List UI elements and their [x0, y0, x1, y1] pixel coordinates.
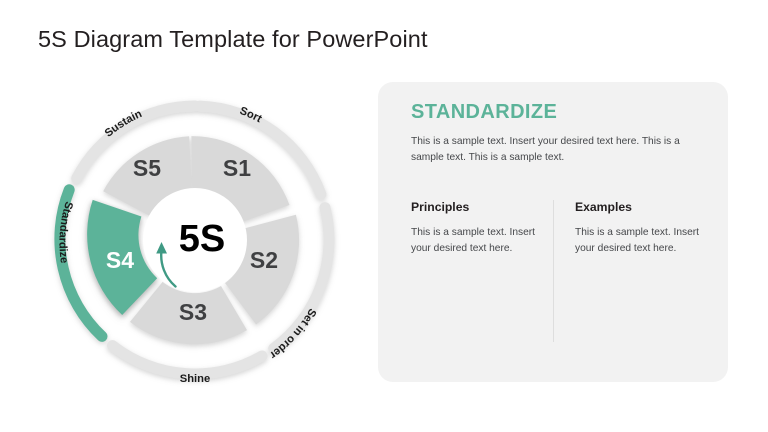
slide-canvas: 5S Diagram Template for PowerPoint — [0, 0, 768, 432]
panel-column-principles: Principles This is a sample text. Insert… — [411, 200, 539, 256]
segment-label-s3: S3 — [179, 299, 207, 325]
panel-body-text: This is a sample text. Insert your desir… — [411, 134, 699, 165]
info-panel: STANDARDIZE This is a sample text. Inser… — [378, 82, 728, 382]
ring-label-shine: Shine — [180, 373, 210, 385]
segment-label-s5: S5 — [133, 155, 161, 181]
panel-columns: Principles This is a sample text. Insert… — [411, 200, 703, 256]
ring-label-set-in-order: Set in order — [267, 306, 318, 361]
page-title: 5S Diagram Template for PowerPoint — [38, 26, 428, 53]
column-title: Examples — [575, 200, 703, 214]
segment-label-s4: S4 — [106, 247, 134, 273]
five-s-diagram: Sort Set in order Shine Standardize Sust… — [34, 82, 356, 398]
panel-heading: STANDARDIZE — [411, 101, 557, 124]
column-body: This is a sample text. Insert your desir… — [575, 225, 703, 256]
segment-label-s1: S1 — [223, 155, 251, 181]
column-body: This is a sample text. Insert your desir… — [411, 225, 539, 256]
segment-label-s2: S2 — [250, 247, 278, 273]
panel-column-examples: Examples This is a sample text. Insert y… — [575, 200, 703, 256]
center-label: 5S — [179, 218, 225, 260]
column-spacer — [539, 200, 575, 256]
column-title: Principles — [411, 200, 539, 214]
outer-arc-shine[interactable] — [113, 346, 263, 374]
